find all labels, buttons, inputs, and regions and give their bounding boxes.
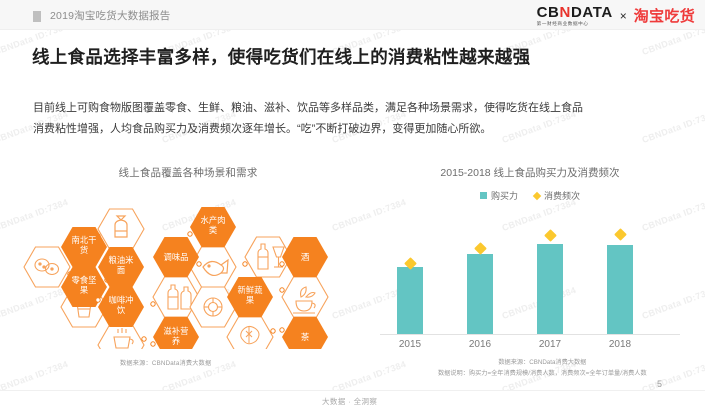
legend-square-icon (480, 192, 487, 199)
chart-title: 2015-2018 线上食品购买力及消费频次 (370, 165, 690, 180)
cross-separator-icon: × (620, 9, 627, 23)
bar-2017[interactable] (537, 244, 563, 334)
chart-x-axis-labels: 2015 2016 2017 2018 (380, 339, 680, 355)
x-axis-line (380, 334, 680, 335)
hexagon-map-svg: 南北干 货 零食坚 果 粮油米 面 (18, 189, 358, 349)
svg-text:酒: 酒 (301, 252, 310, 263)
cbndata-wordmark-b: DATA (571, 4, 613, 21)
hex-icon-ginseng (227, 317, 275, 349)
hex-label-shuichanrourei[interactable]: 水产肉 类 (188, 207, 236, 247)
page-number: 5 (657, 379, 662, 389)
chart-plot-area (380, 217, 680, 335)
x-label-2015: 2015 (387, 339, 433, 350)
svg-text:果: 果 (246, 295, 254, 305)
hex-label-text: 南北干 (72, 235, 97, 245)
body-line-1: 目前线上可购食物版图覆盖零食、生鲜、粮油、滋补、饮品等多样品类，满足各种场景需求… (33, 98, 678, 119)
source-note-line-2: 数据说明：购买力=全年消费规模/消费人数，消费频次=全年订单量/消费人数 (438, 369, 647, 380)
svg-text:类: 类 (209, 225, 217, 235)
cbndata-wordmark-a: CB (537, 4, 560, 21)
hex-icon-coffee-cup (98, 325, 146, 349)
partner-wordmark: 淘宝吃货 (634, 5, 695, 26)
brand-lockup: CBNDATA 第一财经商业数据中心 × 淘宝吃货 (537, 5, 695, 27)
svg-text:滋补营: 滋补营 (164, 326, 189, 336)
svg-text:面: 面 (117, 265, 125, 275)
cbndata-wordmark-n: N (560, 4, 571, 21)
bullet-square-icon (33, 11, 41, 22)
point-2018[interactable] (614, 228, 627, 241)
x-label-2017: 2017 (527, 339, 573, 350)
legend-diamond-icon (533, 191, 541, 199)
svg-text:粮油米: 粮油米 (109, 255, 135, 265)
svg-text:调味品: 调味品 (164, 252, 189, 262)
legend-label: 购买力 (491, 189, 518, 202)
svg-text:新鲜蔬: 新鲜蔬 (238, 285, 264, 295)
legend-item-frequency[interactable]: 消费频次 (534, 189, 580, 202)
top-bar: 2019淘宝吃货大数据报告 CBNDATA 第一财经商业数据中心 × 淘宝吃货 (0, 0, 705, 30)
left-panel-title: 线上食品覆盖各种场景和需求 (18, 165, 358, 180)
body-line-2: 消费粘性增强，人均食品购买力及消费频次逐年增长。“吃”不断打破边界，变得更加随心… (33, 119, 678, 140)
left-panel: 线上食品覆盖各种场景和需求 (18, 165, 358, 370)
hex-label-zibuyingyang[interactable]: 滋补营 养 (151, 317, 199, 349)
svg-text:果: 果 (80, 285, 88, 295)
hex-label-jiu[interactable]: 酒 (280, 237, 328, 277)
svg-text:养: 养 (172, 336, 180, 346)
body-paragraph: 目前线上可购食物版图覆盖零食、生鲜、粮油、滋补、饮品等多样品类，满足各种场景需求… (33, 98, 678, 141)
bottom-bar-tagline: 大数据 · 全洞察 (322, 396, 377, 407)
right-panel: 2015-2018 线上食品购买力及消费频次 购买力 消费频次 2015 (370, 165, 690, 370)
point-2017[interactable] (544, 229, 557, 242)
hex-label-cha[interactable]: 茶 (280, 317, 328, 349)
left-source-note: 数据来源：CBNData消费大数据 (120, 358, 211, 367)
point-2016[interactable] (474, 242, 487, 255)
svg-text:咖啡冲: 咖啡冲 (109, 295, 134, 305)
bar-2016[interactable] (467, 254, 493, 334)
legend-label: 消费频次 (544, 189, 580, 202)
hex-icon-fish (190, 247, 236, 287)
right-source-note: 数据来源：CBNData消费大数据 数据说明：购买力=全年消费规模/消费人数，消… (438, 358, 647, 380)
bar-2018[interactable] (607, 245, 633, 334)
source-note-line-1: 数据来源：CBNData消费大数据 (438, 358, 647, 369)
svg-text:零食坚: 零食坚 (72, 275, 97, 285)
cbndata-wordmark: CBNDATA (537, 5, 613, 20)
svg-text:茶: 茶 (301, 331, 310, 343)
cbndata-subtitle: 第一财经商业数据中心 (537, 22, 613, 27)
hex-icon-tea-leaf-cup (280, 277, 328, 317)
legend-item-purchasing-power[interactable]: 购买力 (480, 189, 518, 202)
chart-legend: 购买力 消费频次 (370, 189, 690, 202)
x-label-2018: 2018 (597, 339, 643, 350)
cbndata-logo: CBNDATA 第一财经商业数据中心 (537, 5, 613, 27)
x-label-2016: 2016 (457, 339, 503, 350)
report-title: 2019淘宝吃货大数据报告 (50, 8, 170, 23)
svg-text:水产肉: 水产肉 (201, 215, 226, 225)
bar-2015[interactable] (397, 267, 423, 334)
bottom-bar: 大数据 · 全洞察 5 (0, 390, 705, 412)
slide: 2019淘宝吃货大数据报告 CBNDATA 第一财经商业数据中心 × 淘宝吃货 … (0, 0, 705, 412)
svg-text:货: 货 (80, 245, 88, 255)
page-title: 线上食品选择丰富多样，使得吃货们在线上的消费粘性越来越强 (32, 44, 530, 69)
svg-text:饮: 饮 (117, 305, 126, 315)
hexagon-category-map: 南北干 货 零食坚 果 粮油米 面 (18, 189, 358, 349)
